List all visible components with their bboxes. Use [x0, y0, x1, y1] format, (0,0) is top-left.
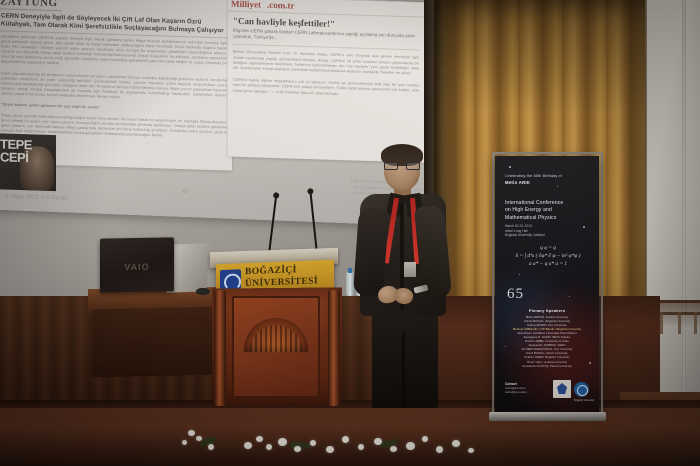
banner-title-line-3: Mathematical Physics [505, 215, 556, 221]
banner-event-meta: March 20-24, 2013 Albert Long Hall Boğaz… [505, 224, 591, 238]
list-item: Konstantin KOUTAŞ, Patras University [499, 364, 595, 368]
conference-rollup-banner: Celebrating the 65th Birthday of Metin A… [495, 156, 599, 412]
banner-equation-3: a a* − q a* a = 1 [503, 260, 593, 268]
banner-celebrating-suffix: th Birthday of [538, 174, 562, 178]
slide-page-number: 47 [182, 189, 188, 195]
banner-sponsor-note: Boğaziçi University [574, 399, 594, 402]
banner-honoree-name: Metin ARIK [505, 180, 530, 185]
rollup-banner-base [489, 412, 606, 421]
banner-celebrating-line: Celebrating the 65th Birthday of [505, 174, 593, 179]
banner-title-line-2: on High Energy and [505, 207, 552, 213]
railing-post [660, 312, 663, 334]
speaker-person [352, 146, 456, 408]
milliyet-body-2: CERN'in halkla ilişkiler departmanını ço… [228, 74, 424, 102]
milliyet-logo: Milliyet [228, 0, 264, 12]
speaker-leg-gap [402, 332, 405, 408]
eyeglasses-icon [383, 162, 421, 170]
banner-celebrating-prefix: Celebrating the 65 [505, 174, 538, 178]
sponsor-logo-circle-icon [574, 382, 589, 397]
magazine-title-line-2: CEPİ [0, 150, 28, 164]
presenter-table-skirt [92, 307, 220, 378]
banner-equations: q q = q S = ∫ d⁴x ( ∂φ* ∂ φ − m² φ*φ ) a… [503, 244, 593, 268]
vaio-laptop: VAIO [100, 237, 174, 292]
conference-badge [404, 262, 416, 277]
computer-mouse [196, 288, 210, 295]
institution-line-1: BOĞAZİÇİ [245, 265, 297, 277]
slide-footer: ... & Higgs 2013, V.E.Özcan [0, 193, 68, 201]
conference-photo-scene: ZAYTUNG CERN Deneyiyle İlgili de Söyleye… [0, 0, 700, 466]
white-flower-arrangement [170, 424, 530, 466]
banner-speakers-heading: Plenary Speakers [495, 308, 599, 313]
banner-venue-university: Boğaziçi University, Istanbul [505, 233, 591, 238]
speaker-arm-left [353, 207, 389, 297]
banner-contact-info: metin@arık.edu.tr metin@boun.edu.tr [505, 387, 527, 394]
banner-contact-heading: Contact [505, 382, 517, 386]
zaytung-logo: ZAYTUNG [0, 0, 62, 11]
banner-contact-email-2: metin@boun.edu.tr [505, 391, 527, 395]
banner-title-line-1: International Conference [505, 200, 563, 206]
milliyet-domain: .com.tr [264, 0, 297, 13]
wall-pilaster [682, 0, 686, 400]
speaker-legs [372, 312, 438, 408]
lectern-column [328, 290, 340, 406]
banner-speakers-list: Metin ARIKAN, Ankara University Ahmet BA… [499, 315, 595, 368]
railing-post [678, 312, 681, 334]
banner-equation-2: S = ∫ d⁴x ( ∂φ* ∂ φ − m² φ*φ ) [503, 252, 593, 260]
sponsor-logo-shield-icon [553, 380, 571, 398]
banner-equation-1: q q = q [503, 244, 593, 252]
lectern-column [214, 290, 226, 406]
railing-post [694, 312, 697, 334]
lectern-institution-name: BOĞAZİÇİ ÜNİVERSİTESİ [245, 263, 318, 290]
laptop-brand-label: VAIO [124, 262, 149, 272]
slide-panel-milliyet: Milliyet .com.tr "Can havliyle keşfettil… [228, 0, 424, 163]
banner-anniversary-glyph: 65 [507, 286, 524, 303]
banner-conference-title: International Conference on High Energy … [505, 200, 591, 222]
magazine-thumbnail: TEPE CEPİ [0, 133, 56, 191]
